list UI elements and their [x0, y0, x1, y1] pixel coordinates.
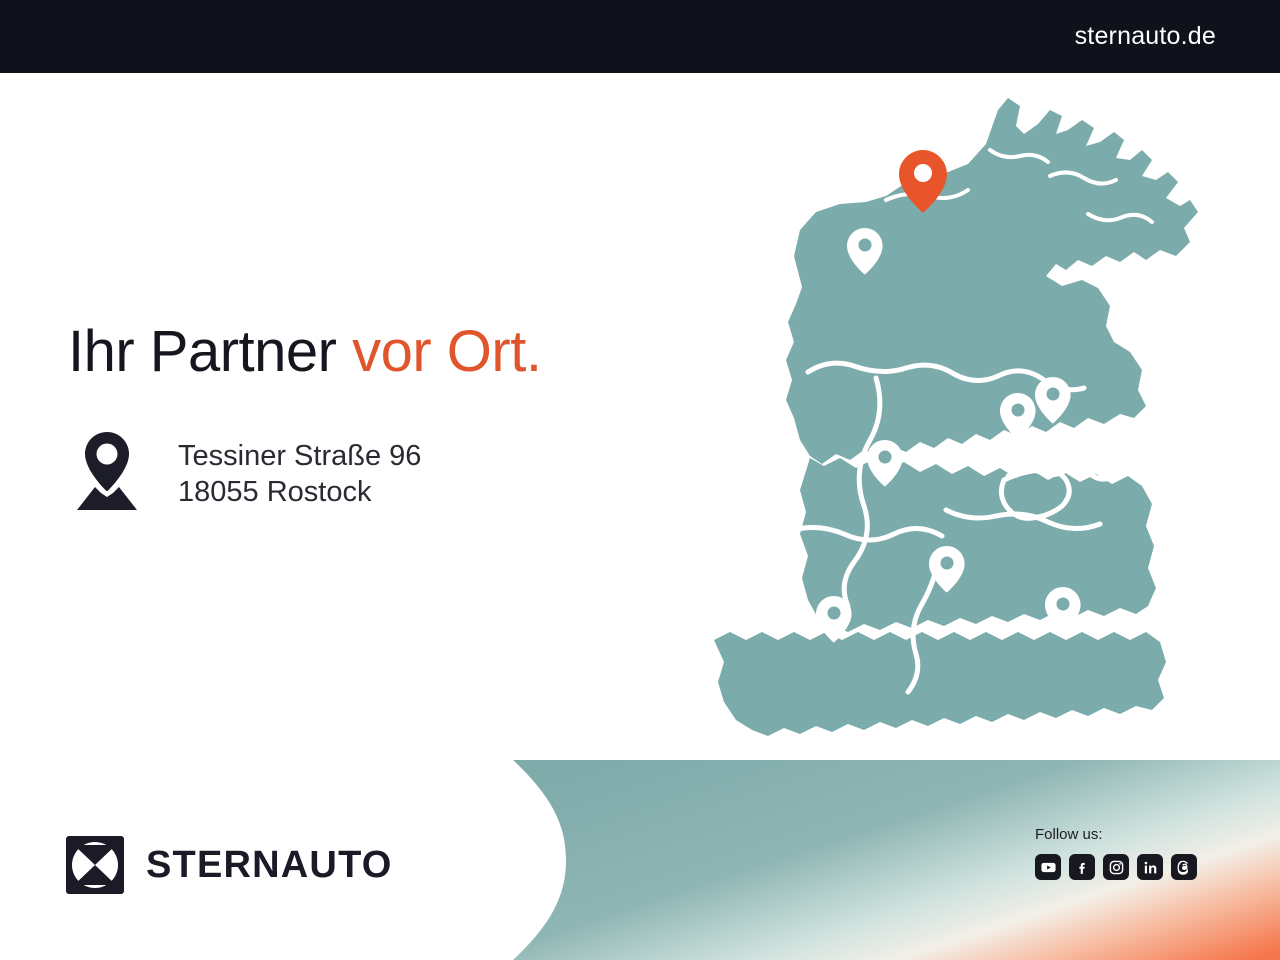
- map-pin-southeast[interactable]: [1045, 587, 1081, 633]
- sternauto-wordmark: STERNAUTO: [146, 844, 393, 887]
- address-lines: Tessiner Straße 96 18055 Rostock: [178, 430, 421, 511]
- content-block: Ihr Partner vor Ort. Tessiner Straße 96 …: [68, 320, 688, 512]
- headline-primary: Ihr Partner: [68, 319, 352, 384]
- instagram-icon[interactable]: [1103, 854, 1129, 880]
- follow-us-label: Follow us:: [1035, 826, 1235, 843]
- facebook-icon[interactable]: [1069, 854, 1095, 880]
- sternauto-logo[interactable]: STERNAUTO: [66, 836, 393, 894]
- social-links: [1035, 854, 1235, 880]
- threads-icon[interactable]: [1171, 854, 1197, 880]
- location-pin-icon: [68, 430, 146, 512]
- germany-east-map: [690, 80, 1230, 760]
- site-url: sternauto.de: [1075, 22, 1280, 51]
- address-line-2: 18055 Rostock: [178, 474, 421, 510]
- youtube-icon[interactable]: [1035, 854, 1061, 880]
- linkedin-icon[interactable]: [1137, 854, 1163, 880]
- address-block: Tessiner Straße 96 18055 Rostock: [68, 430, 688, 512]
- follow-us-block: Follow us:: [1035, 826, 1235, 880]
- headline-accent: vor Ort.: [352, 319, 541, 384]
- top-bar: sternauto.de: [0, 0, 1280, 73]
- page-title: Ihr Partner vor Ort.: [68, 320, 688, 384]
- address-line-1: Tessiner Straße 96: [178, 438, 421, 474]
- sternauto-emblem-icon: [66, 836, 124, 894]
